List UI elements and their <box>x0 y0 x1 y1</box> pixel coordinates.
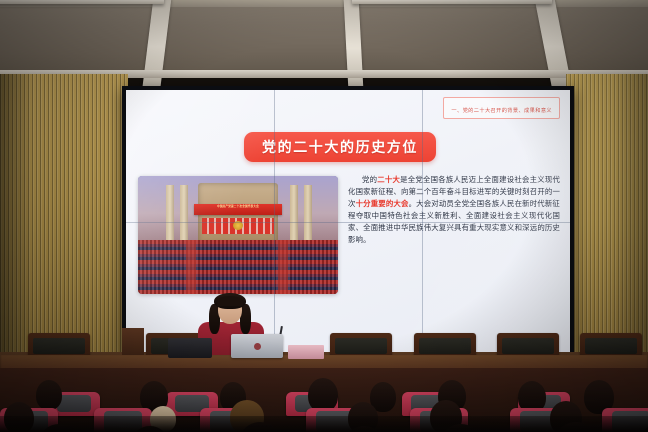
photo-aisle-left <box>186 240 196 294</box>
video-wall-screen: 一、党的二十大召开的背景、成果和意义 党的二十大的历史方位 中国共产党第二十次全… <box>126 90 570 354</box>
slide-photo-congress-hall: 中国共产党第二十次全国代表大会 <box>138 176 338 294</box>
photo-banner-text: 中国共产党第二十次全国代表大会 <box>194 204 282 208</box>
presenter-laptop[interactable] <box>231 334 283 358</box>
stage-podium <box>122 328 144 358</box>
slide-section-header-label: 一、党的二十大召开的背景、成果和意义 <box>451 108 552 114</box>
laptop-logo-icon <box>254 343 261 350</box>
photo-aisle-right <box>278 240 288 294</box>
photo-congress-banner: 中国共产党第二十次全国代表大会 <box>194 204 282 215</box>
slide-body-text: 党的二十大是全党全国各族人民迈上全面建设社会主义现代化国家新征程、向第二个百年奋… <box>348 174 560 246</box>
audience-area <box>0 368 648 432</box>
photo-scene: 一、党的二十大召开的背景、成果和意义 党的二十大的历史方位 中国共产党第二十次全… <box>0 0 648 432</box>
body-highlight-2: 十分重要的大会 <box>356 199 409 208</box>
presenter-hair-fringe <box>217 296 243 306</box>
ceiling-soffit-group <box>0 0 648 78</box>
photo-column-left <box>166 185 174 244</box>
body-segment-1: 党的 <box>362 175 377 184</box>
desk-monitor[interactable] <box>168 338 212 358</box>
photo-column-right <box>290 185 298 244</box>
soffit-band-2 <box>343 0 363 92</box>
ceiling <box>0 0 648 78</box>
stage-chair-6 <box>580 333 642 357</box>
photo-delegate-seating <box>138 240 338 294</box>
photo-column-right-2 <box>304 185 312 244</box>
foreground-shadow <box>0 416 648 432</box>
desk-nameplate <box>288 345 324 359</box>
stage-chair-3 <box>330 333 392 357</box>
slide-title-text: 党的二十大的历史方位 <box>262 139 418 155</box>
slide-section-header: 一、党的二十大召开的背景、成果和意义 <box>443 97 560 119</box>
soffit-band-top-mid <box>352 0 552 4</box>
stage-chair-4 <box>414 333 476 357</box>
stage-chair-5 <box>497 333 559 357</box>
slide-title-banner: 党的二十大的历史方位 <box>244 132 436 162</box>
body-highlight-1: 二十大 <box>377 175 400 184</box>
soffit-band-top-left <box>0 0 164 4</box>
photo-column-left-2 <box>180 185 188 244</box>
video-wall-seam-h1 <box>126 222 570 223</box>
led-video-wall[interactable]: 一、党的二十大召开的背景、成果和意义 党的二十大的历史方位 中国共产党第二十次全… <box>122 86 574 358</box>
stage-chair-1 <box>28 333 90 357</box>
